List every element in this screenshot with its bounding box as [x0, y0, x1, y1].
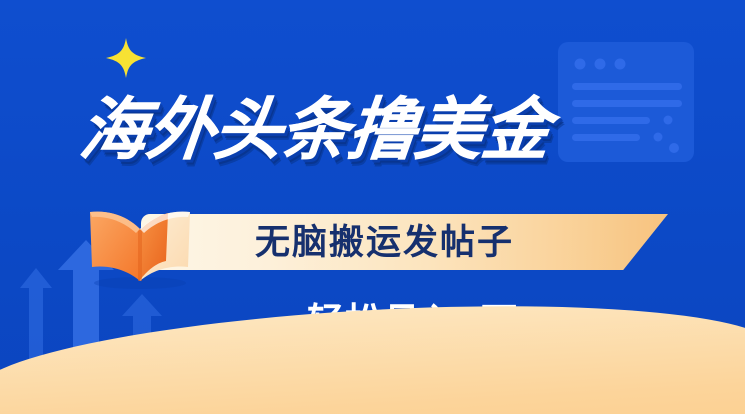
bottom-band-highlight: [0, 292, 745, 414]
ribbon-banner: [141, 214, 668, 270]
browser-window-icon: [556, 40, 716, 170]
poster-background: [0, 0, 745, 414]
ribbon-banner-label: 无脑搬运发帖子: [255, 220, 675, 266]
subtitle: 轻松月入1万+: [307, 300, 541, 344]
star-icon: [104, 36, 148, 80]
promo-poster: 海外头条撸美金: [0, 0, 745, 414]
open-book-icon: [84, 203, 196, 289]
page-title: 海外头条撸美金: [76, 96, 552, 164]
bottom-band: [0, 288, 745, 414]
growth-arrows-icon: [0, 236, 210, 396]
